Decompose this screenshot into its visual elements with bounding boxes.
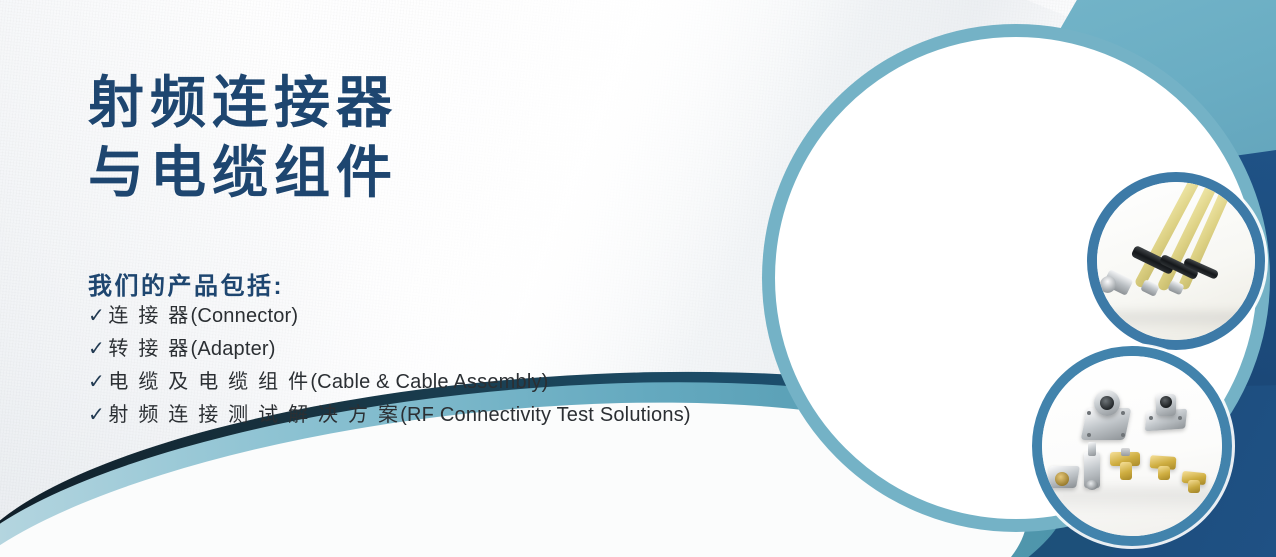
list-item: ✓ 连 接 器 (Connector) bbox=[88, 301, 728, 331]
check-icon: ✓ bbox=[88, 334, 105, 364]
rf-connectors-circle bbox=[1032, 346, 1232, 546]
product-list: ✓ 连 接 器 (Connector) ✓ 转 接 器 (Adapter) ✓ … bbox=[88, 301, 728, 433]
headline-line-2: 与电缆组件 bbox=[88, 138, 728, 208]
list-item-label-en: (Cable & Cable Assembly) bbox=[310, 367, 548, 397]
list-item-label-zh: 连 接 器 bbox=[108, 301, 190, 331]
list-item-label-zh: 射 频 连 接 测 试 解 决 方 案 bbox=[108, 400, 400, 430]
list-item: ✓ 电 缆 及 电 缆 组 件 (Cable & Cable Assembly) bbox=[88, 367, 728, 397]
page-title: 射频连接器 与电缆组件 bbox=[88, 68, 728, 208]
cable-assembly-circle bbox=[1087, 172, 1265, 350]
list-item-label-en: (Adapter) bbox=[190, 334, 275, 364]
list-item-label-en: (Connector) bbox=[190, 301, 298, 331]
rf-connector-banner: 射频连接器 与电缆组件 我们的产品包括: ✓ 连 接 器 (Connector)… bbox=[0, 0, 1276, 557]
headline-line-1: 射频连接器 bbox=[88, 68, 728, 138]
subheading: 我们的产品包括: bbox=[88, 266, 284, 301]
list-item: ✓ 转 接 器 (Adapter) bbox=[88, 334, 728, 364]
list-item-label-zh: 电 缆 及 电 缆 组 件 bbox=[108, 367, 310, 397]
rf-connectors-illustration bbox=[1042, 356, 1222, 536]
list-item-label-zh: 转 接 器 bbox=[108, 334, 190, 364]
check-icon: ✓ bbox=[88, 400, 105, 430]
list-item: ✓ 射 频 连 接 测 试 解 决 方 案 (RF Connectivity T… bbox=[88, 400, 728, 430]
check-icon: ✓ bbox=[88, 301, 105, 331]
list-item-label-en: (RF Connectivity Test Solutions) bbox=[400, 400, 691, 430]
cable-assembly-illustration bbox=[1097, 182, 1255, 340]
check-icon: ✓ bbox=[88, 367, 105, 397]
